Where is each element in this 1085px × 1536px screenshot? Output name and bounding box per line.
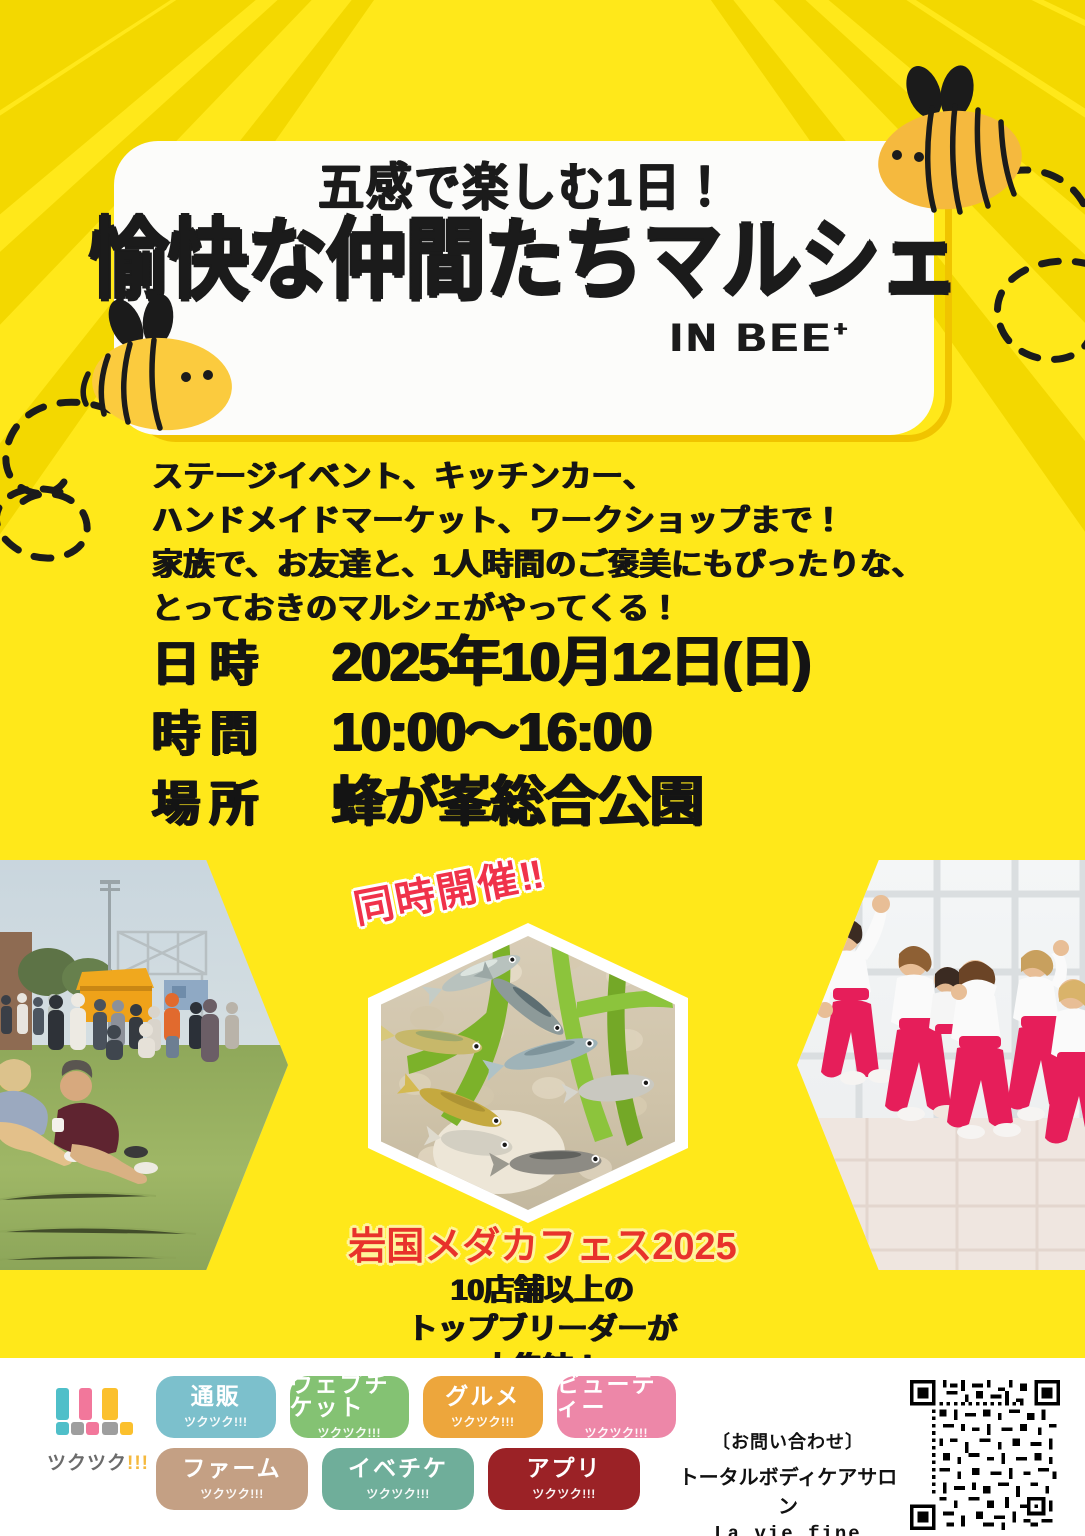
service-chip-label: ウェブチケット: [290, 1373, 410, 1419]
service-chip-sublabel: ツクツク!!!: [318, 1424, 382, 1441]
service-chip-tsuhan[interactable]: 通販 ツクツク!!!: [156, 1376, 276, 1438]
title-subtitle: IN BEE+: [671, 316, 852, 361]
service-chip-label: グルメ: [445, 1385, 520, 1408]
service-chip-sublabel: ツクツク!!!: [184, 1413, 248, 1430]
contact-salon-name: トータルボディケアサロン: [672, 1461, 904, 1519]
service-chip-beauty[interactable]: ビューティー ツクツク!!!: [557, 1376, 677, 1438]
title-subtitle-plus: +: [834, 317, 852, 342]
event-details: 日時 2025年10月12日(日) 時間 10:00〜16:00 場所 蜂が峯総…: [152, 630, 810, 840]
service-chip-label: イベチケ: [348, 1457, 448, 1480]
title-subtitle-text: IN BEE: [671, 316, 834, 360]
bee-illustration-top: [862, 62, 1042, 237]
title-tagline: 五感で楽しむ1日！: [318, 160, 730, 214]
detail-value-time: 10:00〜16:00: [332, 700, 651, 766]
detail-value-date: 2025年10月12日(日): [332, 630, 810, 696]
medaka-fest-sub-line-1: 10店舗以上の: [0, 1273, 1085, 1309]
service-chip-sublabel: ツクツク!!!: [585, 1424, 649, 1441]
tsukutsuku-logo-mark: [46, 1386, 150, 1442]
tsukutsuku-word: ツクツク: [47, 1453, 127, 1474]
detail-label-date: 日時: [152, 636, 332, 695]
event-description: ステージイベント、キッチンカー、 ハンドメイドマーケット、ワークショップまで！ …: [152, 455, 923, 631]
contact-brand-name: La vie fine: [672, 1523, 904, 1536]
photo-festival-crowd: [0, 860, 288, 1270]
description-line-4: とっておきのマルシェがやってくる！: [152, 587, 923, 631]
detail-value-venue: 蜂が峯総合公園: [332, 770, 703, 836]
detail-row-venue: 場所 蜂が峯総合公園: [152, 770, 810, 836]
service-chip-label: アプリ: [527, 1457, 602, 1480]
service-chip-label: ファーム: [182, 1457, 281, 1480]
medaka-fest-title: 岩国メダカフェス2025: [0, 1215, 1085, 1270]
service-chip-app[interactable]: アプリ ツクツク!!!: [488, 1448, 640, 1510]
description-line-3: 家族で、お友達と、1人時間のご褒美にもぴったりな、: [152, 543, 923, 587]
service-chip-sublabel: ツクツク!!!: [200, 1485, 264, 1502]
service-chip-ibechike[interactable]: イベチケ ツクツク!!!: [322, 1448, 474, 1510]
service-chip-webticket[interactable]: ウェブチケット ツクツク!!!: [290, 1376, 410, 1438]
service-chip-grid: 通販 ツクツク!!! ウェブチケット ツクツク!!! グルメ ツクツク!!! ビ…: [156, 1376, 676, 1520]
simultaneous-event-badge: 同時開催‼: [348, 841, 550, 935]
tsukutsuku-logo[interactable]: ツクツク!!!: [46, 1386, 150, 1475]
service-chip-gourmet[interactable]: グルメ ツクツク!!!: [423, 1376, 543, 1438]
service-chip-label: 通販: [191, 1385, 241, 1408]
service-chip-row-2: ファーム ツクツク!!! イベチケ ツクツク!!! アプリ ツクツク!!!: [156, 1448, 676, 1510]
photo-kids-dance: [797, 860, 1085, 1270]
description-line-1: ステージイベント、キッチンカー、: [152, 455, 923, 499]
detail-row-time: 時間 10:00〜16:00: [152, 700, 810, 766]
service-chip-sublabel: ツクツク!!!: [451, 1413, 515, 1430]
contact-heading: 〔お問い合わせ〕: [672, 1428, 904, 1454]
photo-band: 同時開催‼ 岩国メダカフェス2025 10店舗以上の トップブリーダーが 大集結…: [0, 845, 1085, 1285]
medaka-fest-sub-line-2: トップブリーダーが: [0, 1312, 1085, 1348]
event-poster: 五感で楽しむ1日！ 愉快な仲間たちマルシェ IN BEE+: [0, 0, 1085, 1536]
service-chip-row-1: 通販 ツクツク!!! ウェブチケット ツクツク!!! グルメ ツクツク!!! ビ…: [156, 1376, 676, 1438]
bee-illustration-left: [70, 292, 245, 442]
tsukutsuku-exclaim: !!!: [127, 1453, 149, 1474]
detail-label-time: 時間: [152, 706, 332, 765]
detail-label-venue: 場所: [152, 776, 332, 835]
service-chip-farm[interactable]: ファーム ツクツク!!!: [156, 1448, 308, 1510]
tsukutsuku-logo-text: ツクツク!!!: [46, 1448, 150, 1475]
service-chip-sublabel: ツクツク!!!: [532, 1485, 596, 1502]
photo-medaka-hex: [368, 923, 688, 1223]
qr-code[interactable]: [903, 1380, 1067, 1530]
footer: ツクツク!!! 通販 ツクツク!!! ウェブチケット ツクツク!!! グルメ ツ…: [0, 1358, 1085, 1536]
description-line-2: ハンドメイドマーケット、ワークショップまで！: [152, 499, 923, 543]
service-chip-label: ビューティー: [557, 1373, 677, 1419]
detail-row-date: 日時 2025年10月12日(日): [152, 630, 810, 696]
service-chip-sublabel: ツクツク!!!: [366, 1485, 430, 1502]
contact-block: 〔お問い合わせ〕 トータルボディケアサロン La vie fine lavief…: [672, 1428, 904, 1536]
